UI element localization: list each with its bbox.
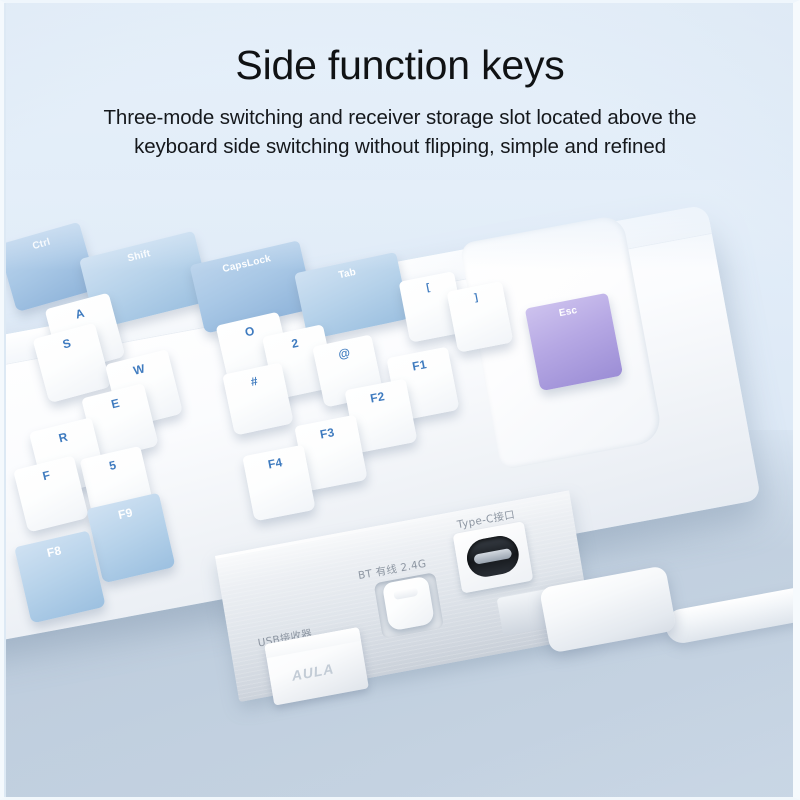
keycap--[interactable]: # <box>222 362 294 435</box>
subtitle-line-2: keyboard side switching without flipping… <box>22 132 778 161</box>
keycap-f9[interactable]: F9 <box>86 493 175 584</box>
page-title: Side function keys <box>0 44 800 87</box>
keycap-f8[interactable]: F8 <box>14 530 106 623</box>
subtitle-line-1: Three-mode switching and receiver storag… <box>104 106 697 129</box>
marketing-text-block: Side function keys Three-mode switching … <box>0 0 800 161</box>
keycap-f4[interactable]: F4 <box>242 445 315 522</box>
keycap-esc[interactable]: Esc <box>525 293 623 391</box>
keycap--[interactable]: ] <box>447 281 514 353</box>
page-subtitle: Three-mode switching and receiver storag… <box>0 103 800 161</box>
product-marketing-image: CtrlShiftCapsLockTab[]EscASO2@W#EF1F2F3R… <box>0 0 800 800</box>
